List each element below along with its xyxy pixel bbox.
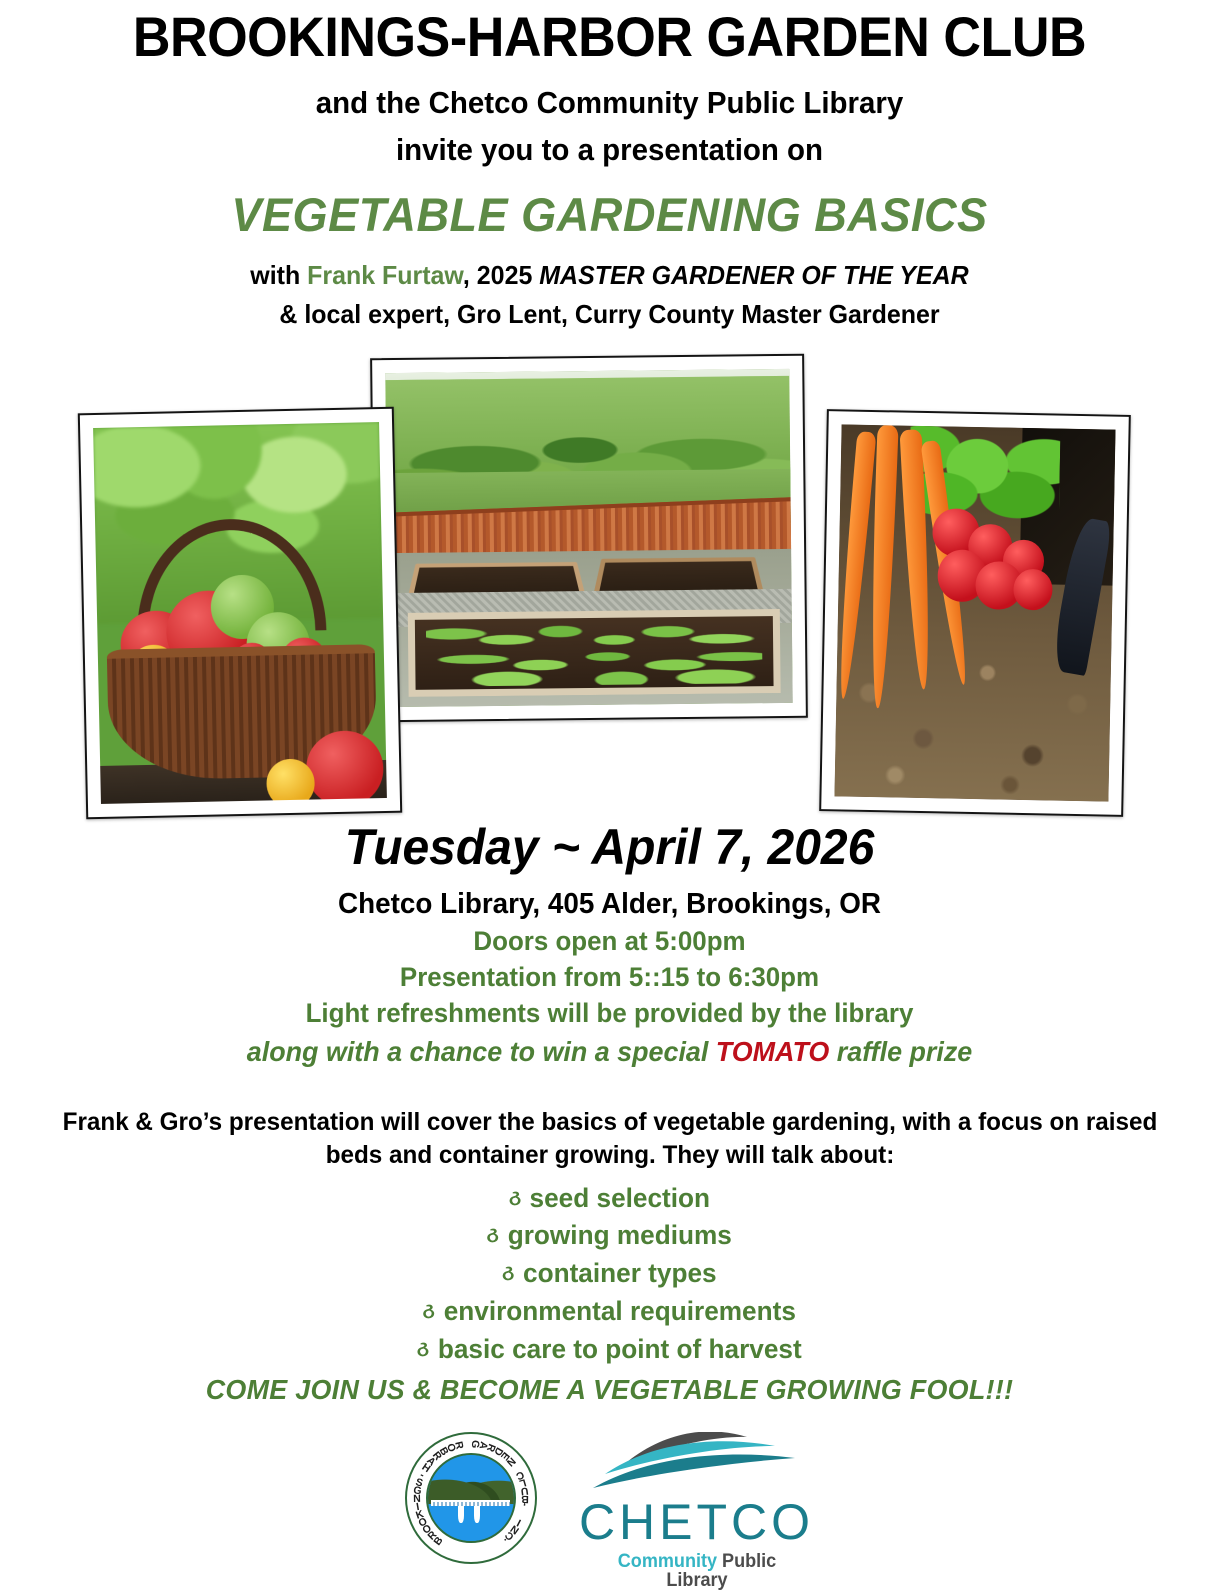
raffle-highlight: TOMATO <box>716 1036 830 1067</box>
topic-label: growing mediums <box>508 1220 732 1250</box>
leaf-bullet-icon: ઠ <box>487 1223 499 1249</box>
list-item: ઠcontainer types <box>18 1257 1200 1291</box>
cohost-line: and the Chetco Community Public Library <box>30 83 1188 124</box>
speaker-name: Frank Furtaw <box>307 260 463 290</box>
presentation-title: VEGETABLE GARDENING BASICS <box>24 187 1194 242</box>
list-item: ઠseed selection <box>18 1182 1200 1216</box>
photo-collage <box>0 344 1219 814</box>
raffle-prefix: along with a chance to win a special <box>247 1036 716 1067</box>
list-item: ઠenvironmental requirements <box>18 1295 1200 1329</box>
chetco-tagline: Community Public Library <box>584 1552 808 1590</box>
raffle-suffix: raffle prize <box>829 1036 972 1067</box>
raised-garden-beds-photo <box>370 353 808 722</box>
event-details: Tuesday ~ April 7, 2026 Chetco Library, … <box>0 818 1219 1068</box>
speaker-mid: , 2025 <box>463 260 539 290</box>
list-item: ઠgrowing mediums <box>18 1219 1200 1253</box>
tomato-basket-photo <box>78 406 402 819</box>
topic-label: seed selection <box>530 1183 711 1213</box>
brookings-harbor-garden-club-logo: BROOKINGS-HARBOR GARDEN CLUB, INC. <box>405 1432 537 1564</box>
carrots-radishes-soil-photo <box>819 409 1131 817</box>
speaker-prefix: with <box>250 260 307 290</box>
description-paragraph: Frank & Gro’s presentation will cover th… <box>52 1106 1168 1172</box>
speaker-line: with Frank Furtaw, 2025 MASTER GARDENER … <box>24 260 1194 291</box>
doors-open-time: Doors open at 5:00pm <box>24 926 1194 957</box>
seal-ring-text: BROOKINGS-HARBOR GARDEN CLUB, INC. <box>405 1432 537 1564</box>
co-speaker-line: & local expert, Gro Lent, Curry County M… <box>24 299 1194 330</box>
invitation-line: invite you to a presentation on <box>30 130 1188 171</box>
presentation-time: Presentation from 5::15 to 6:30pm <box>24 962 1194 993</box>
topic-list: ઠseed selection ઠgrowing mediums ઠcontai… <box>0 1182 1219 1367</box>
leaf-bullet-icon: ઠ <box>423 1299 435 1325</box>
list-item: ઠbasic care to point of harvest <box>18 1333 1200 1367</box>
chetco-waves-icon <box>579 1432 815 1494</box>
topic-label: basic care to point of harvest <box>438 1334 802 1364</box>
event-venue: Chetco Library, 405 Alder, Brookings, OR <box>24 888 1194 921</box>
speaker-award: MASTER GARDENER OF THE YEAR <box>539 260 968 290</box>
leaf-bullet-icon: ઠ <box>509 1186 521 1212</box>
page-title: BROOKINGS-HARBOR GARDEN CLUB <box>43 8 1177 67</box>
chetco-tagline-community: Community <box>617 1551 716 1572</box>
raffle-note: along with a chance to win a special TOM… <box>24 1036 1194 1068</box>
closing-call-to-action: COME JOIN US & BECOME A VEGETABLE GROWIN… <box>24 1374 1194 1406</box>
flyer-header: BROOKINGS-HARBOR GARDEN CLUB and the Che… <box>0 0 1219 330</box>
leaf-bullet-icon: ઠ <box>502 1261 514 1287</box>
leaf-bullet-icon: ઠ <box>417 1337 429 1363</box>
event-date: Tuesday ~ April 7, 2026 <box>24 818 1194 876</box>
topic-label: environmental requirements <box>444 1296 796 1326</box>
chetco-wordmark: CHETCO <box>579 1497 815 1547</box>
logo-row: BROOKINGS-HARBOR GARDEN CLUB, INC. CHETC… <box>0 1432 1219 1590</box>
refreshments-note: Light refreshments will be provided by t… <box>24 998 1194 1029</box>
chetco-community-public-library-logo: CHETCO Community Public Library <box>579 1432 815 1590</box>
topic-label: container types <box>523 1258 717 1288</box>
